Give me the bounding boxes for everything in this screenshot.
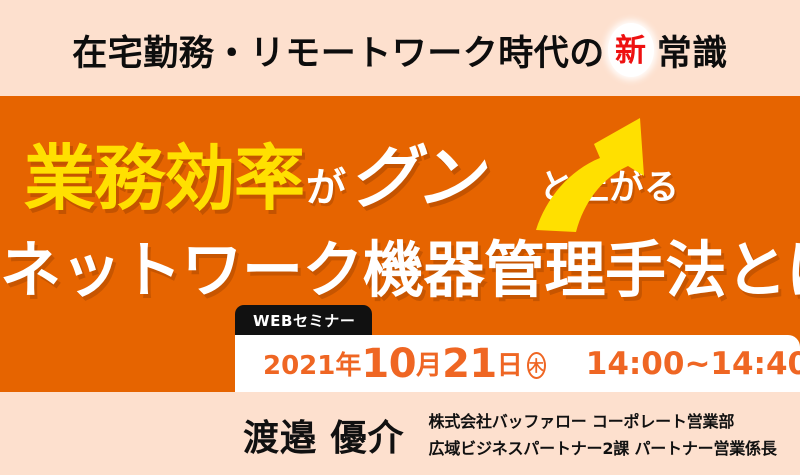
date-month-number: 10 — [361, 341, 416, 387]
kicker-text-after: 常識 — [657, 25, 728, 76]
speaker-affiliation: 株式会社バッファロー コーポレート営業部 広域ビジネスパートナー2課 パートナー… — [429, 408, 777, 459]
speaker-footer: 渡邉 優介 株式会社バッファロー コーポレート営業部 広域ビジネスパートナー2課… — [0, 392, 800, 475]
kicker-text-before: 在宅勤務・リモートワーク時代の — [72, 25, 605, 76]
date-day-unit: 日 — [497, 345, 523, 382]
speaker-affiliation-line-2: 広域ビジネスパートナー2課 パートナー営業係長 — [429, 435, 777, 459]
seminar-info-panel: WEBセミナー 2021年 10 月 21 日 木 14:00~14:40 — [235, 305, 800, 392]
web-seminar-tab-label: WEBセミナー — [253, 310, 355, 331]
headline-yellow-text: 業務効率 — [24, 145, 304, 212]
webinar-banner: 在宅勤務・リモートワーク時代の 新 常識 業務効率 が グン と上がる ネットワ… — [0, 0, 800, 475]
new-badge: 新 — [608, 23, 654, 77]
headline-line-2-text: ネットワーク機器管理手法とは — [0, 235, 800, 306]
date-year: 2021年 — [263, 345, 361, 382]
hero-section: 業務効率 が グン と上がる ネットワーク機器管理手法とは WEBセミナー 20… — [0, 96, 800, 392]
date-time-bar: 2021年 10 月 21 日 木 14:00~14:40 — [235, 335, 800, 392]
seminar-time: 14:00~14:40 — [586, 346, 800, 382]
top-kicker-strip: 在宅勤務・リモートワーク時代の 新 常識 — [0, 0, 800, 96]
headline-line-1: 業務効率 が グン と上がる — [0, 120, 800, 212]
headline-line-2: ネットワーク機器管理手法とは — [0, 220, 800, 309]
kicker-text: 在宅勤務・リモートワーク時代の 新 常識 — [72, 23, 728, 77]
speaker-affiliation-line-1: 株式会社バッファロー コーポレート営業部 — [429, 408, 777, 432]
headline-tail-text: と上がる — [539, 171, 679, 206]
day-of-week-badge: 木 — [527, 352, 546, 379]
new-badge-label: 新 — [615, 36, 647, 67]
date-day-number: 21 — [442, 341, 497, 387]
headline-particle-ga: が — [306, 168, 346, 208]
date-month-unit: 月 — [416, 345, 442, 382]
web-seminar-tab: WEBセミナー — [235, 305, 372, 335]
speaker-name: 渡邉 優介 — [243, 409, 405, 461]
headline-gun-text: グン — [349, 147, 481, 212]
